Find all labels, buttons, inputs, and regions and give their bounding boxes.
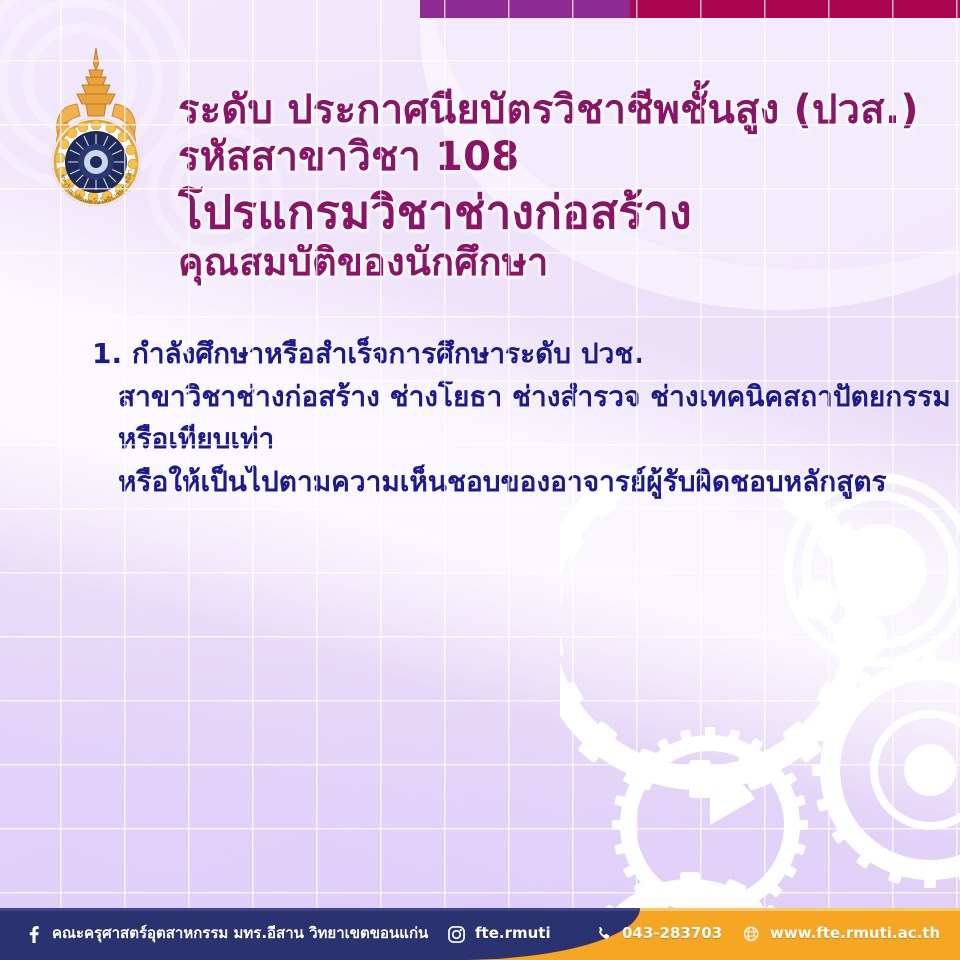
- heading-section-line: คุณสมบัติของนักศึกษา: [178, 242, 938, 284]
- heading-code-line: รหัสสาขาวิชา 108: [178, 135, 938, 179]
- qualification-item-1: 1. กำลังศึกษาหรือสำเร็จการศึกษาระดับ ปวช…: [92, 333, 960, 376]
- footer-website-label: www.fte.rmuti.ac.th: [770, 924, 940, 942]
- top-bar-segment-magenta: [630, 0, 960, 18]
- qualification-item-1-sub-3: หรือให้เป็นไปตามความเห็นชอบของอาจารย์ผู้…: [92, 461, 960, 504]
- top-accent-bar: [0, 0, 960, 18]
- phone-icon: [594, 925, 613, 944]
- qualification-item-1-sub-2: หรือเทียบเท่า: [92, 418, 960, 461]
- rmuti-university-emblem: มหาวิทยาลัยเทคโนโลยีราชมงคลอีสาน: [34, 44, 158, 229]
- heading-program-line: โปรแกรมวิชาช่างก่อสร้าง: [178, 187, 938, 238]
- contact-footer: คณะครุศาสตร์อุตสาหกรรม มทร.อีสาน วิทยาเข…: [0, 908, 960, 960]
- globe-icon: [742, 925, 761, 944]
- heading-group: ระดับ ประกาศนียบัตรวิชาชีพชั้นสูง (ปวส.)…: [178, 88, 938, 283]
- qualification-list: 1. กำลังศึกษาหรือสำเร็จการศึกษาระดับ ปวช…: [92, 333, 960, 503]
- instagram-icon: [447, 925, 466, 944]
- footer-phone[interactable]: 043-283703: [594, 908, 722, 960]
- poster-canvas: มหาวิทยาลัยเทคโนโลยีราชมงคลอีสาน ระดับ ป…: [0, 0, 960, 960]
- footer-facebook[interactable]: คณะครุศาสตร์อุตสาหกรรม มทร.อีสาน วิทยาเข…: [24, 908, 428, 960]
- footer-website[interactable]: www.fte.rmuti.ac.th: [742, 908, 940, 960]
- footer-instagram-label: fte.rmuti: [475, 924, 551, 942]
- footer-facebook-label: คณะครุศาสตร์อุตสาหกรรม มทร.อีสาน วิทยาเข…: [52, 921, 428, 945]
- footer-phone-label: 043-283703: [622, 924, 722, 942]
- qualification-item-1-sub-1: สาขาวิชาช่างก่อสร้าง ช่างโยธา ช่างสำรวจ …: [92, 376, 960, 419]
- footer-instagram[interactable]: fte.rmuti: [447, 908, 551, 960]
- facebook-icon: [24, 925, 43, 944]
- heading-level-line: ระดับ ประกาศนียบัตรวิชาชีพชั้นสูง (ปวส.): [178, 88, 938, 132]
- top-bar-segment-purple: [420, 0, 630, 18]
